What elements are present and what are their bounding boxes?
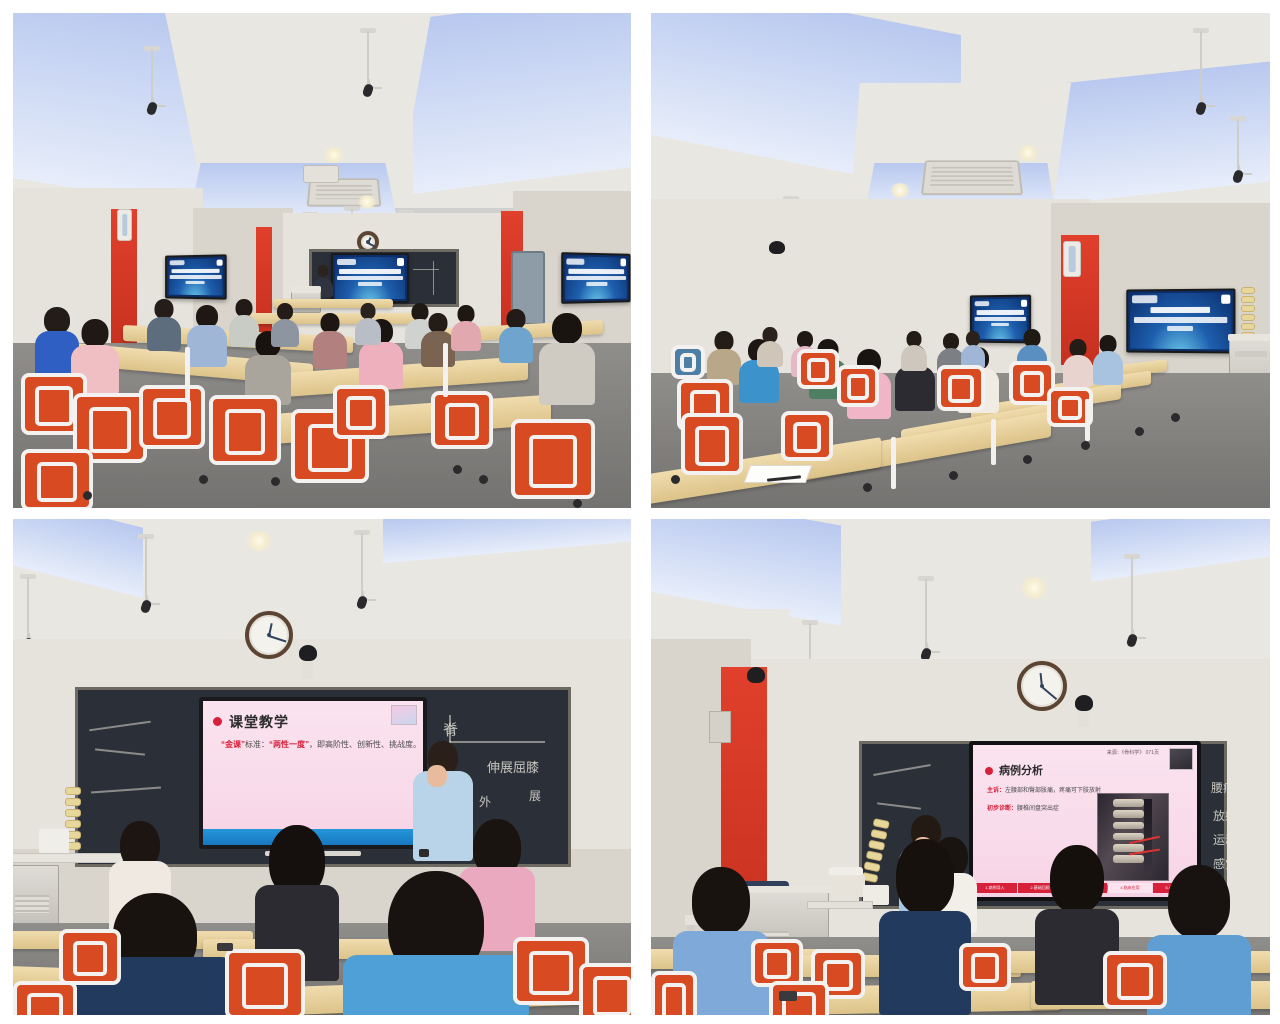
wall-clock bbox=[1017, 661, 1067, 711]
chair[interactable] bbox=[769, 981, 829, 1015]
wall-speaker bbox=[117, 209, 132, 241]
attendee bbox=[451, 305, 481, 351]
boom-microphone bbox=[359, 31, 377, 93]
security-camera bbox=[299, 645, 317, 661]
chalk-note: 运动 bbox=[1213, 831, 1237, 848]
chair[interactable] bbox=[1103, 951, 1167, 1009]
attendee bbox=[499, 309, 533, 363]
boom-microphone bbox=[353, 533, 371, 605]
ceiling-downlight bbox=[357, 195, 377, 209]
chair[interactable] bbox=[681, 413, 743, 475]
screen-front-center-display bbox=[331, 253, 409, 303]
chalk-note: 展 bbox=[529, 787, 541, 804]
chair[interactable] bbox=[797, 349, 839, 389]
chalk-note: 肌力 bbox=[1251, 819, 1270, 836]
wall-speaker bbox=[1063, 241, 1081, 277]
picture-in-picture-camera-feed bbox=[1169, 748, 1193, 770]
boom-microphone bbox=[19, 577, 37, 647]
slide-source-note: 来源：《骨科学》 071页 bbox=[1107, 749, 1159, 756]
ceiling-downlight bbox=[889, 183, 911, 198]
boom-microphone bbox=[137, 537, 155, 609]
attendee bbox=[961, 331, 985, 369]
slide-row-chief-complaint: 主诉：左腰部和臀部胀痛，疼痛可下肢放射 bbox=[987, 785, 1101, 794]
slide-row-initial-diagnosis: 初步诊断：腰椎间盘突出症 bbox=[987, 803, 1059, 812]
attendee bbox=[1093, 335, 1123, 385]
chair[interactable] bbox=[837, 365, 879, 407]
mobile-phone bbox=[217, 943, 233, 951]
attendee bbox=[313, 313, 347, 369]
chair[interactable] bbox=[13, 981, 77, 1015]
attendee bbox=[355, 303, 381, 345]
chair[interactable] bbox=[511, 419, 595, 499]
chair[interactable] bbox=[579, 963, 631, 1015]
photo-panel-bottom-left[interactable]: 脊 伸展屈膝 髋 外 展 课堂教学 “金课”标准：“两性一度”，即高阶性、创新性… bbox=[13, 519, 631, 1015]
chair[interactable] bbox=[209, 395, 281, 465]
attendee bbox=[879, 839, 971, 1015]
chair[interactable] bbox=[59, 929, 121, 985]
photo-panel-top-left[interactable] bbox=[13, 13, 631, 508]
boom-microphone bbox=[1229, 119, 1247, 179]
boom-microphone bbox=[143, 49, 161, 111]
mobile-phone bbox=[779, 991, 797, 1001]
screen-left-wall-display bbox=[165, 254, 227, 299]
attendee bbox=[901, 331, 927, 371]
photo-panel-bottom-right[interactable]: 腰痛 放射 运动 感觉 肌力 来源：《骨科学》 071页 病例分析 主诉：左腰部… bbox=[651, 519, 1270, 1015]
spine-model bbox=[1241, 287, 1255, 339]
chalk-note: 放射 bbox=[1213, 807, 1237, 824]
photo-collage: 脊 伸展屈膝 髋 外 展 课堂教学 “金课”标准：“两性一度”，即高阶性、创新性… bbox=[0, 0, 1280, 1024]
attendee bbox=[757, 327, 783, 367]
attendee bbox=[1063, 339, 1093, 387]
ceiling-downlight bbox=[245, 531, 273, 551]
wall-clock bbox=[245, 611, 293, 659]
attendee bbox=[271, 303, 299, 347]
attendee bbox=[539, 313, 595, 405]
chalk-note: 外 bbox=[479, 793, 491, 810]
attendee bbox=[707, 331, 741, 385]
ceiling-downlight bbox=[1017, 145, 1039, 161]
chair[interactable] bbox=[333, 385, 389, 439]
chair[interactable] bbox=[751, 939, 803, 987]
presenter-remote bbox=[419, 849, 429, 857]
screen-right-wall-display bbox=[561, 252, 630, 304]
chair[interactable] bbox=[671, 345, 705, 379]
boom-microphone bbox=[1191, 31, 1211, 111]
slide-heading: 课堂教学 bbox=[229, 712, 289, 732]
chair[interactable] bbox=[21, 449, 93, 508]
security-camera bbox=[747, 667, 765, 683]
projector bbox=[303, 165, 339, 183]
chair[interactable] bbox=[225, 949, 305, 1015]
chalk-note: 伸展屈膝 bbox=[487, 757, 539, 776]
boom-microphone bbox=[1123, 557, 1141, 643]
chair[interactable] bbox=[937, 365, 985, 411]
photo-panel-top-right[interactable] bbox=[651, 13, 1270, 508]
slide-body: “金课”标准：“两性一度”，即高阶性、创新性、挑战度。 bbox=[221, 739, 421, 750]
picture-in-picture-camera-feed bbox=[391, 705, 417, 725]
ceiling-downlight bbox=[323, 147, 345, 163]
chalk-note: 腰痛 bbox=[1211, 779, 1235, 796]
attendee bbox=[147, 299, 181, 351]
chair[interactable] bbox=[139, 385, 205, 449]
chair[interactable] bbox=[959, 943, 1011, 991]
chair[interactable] bbox=[651, 971, 697, 1015]
attendee bbox=[187, 305, 227, 367]
security-camera bbox=[1075, 695, 1093, 711]
chair[interactable] bbox=[513, 937, 589, 1005]
breadcrumb-step[interactable]: 1.病例导入 bbox=[973, 883, 1017, 893]
ceiling-downlight bbox=[1019, 577, 1049, 599]
attendee bbox=[343, 871, 529, 1015]
boom-microphone bbox=[917, 579, 935, 657]
attendee bbox=[421, 313, 455, 367]
chair[interactable] bbox=[781, 411, 833, 461]
security-camera bbox=[769, 241, 785, 254]
slide-heading: 病例分析 bbox=[999, 762, 1043, 778]
chair[interactable] bbox=[431, 391, 493, 449]
screen-front-display bbox=[1126, 288, 1235, 353]
air-conditioner-vent bbox=[921, 160, 1023, 195]
